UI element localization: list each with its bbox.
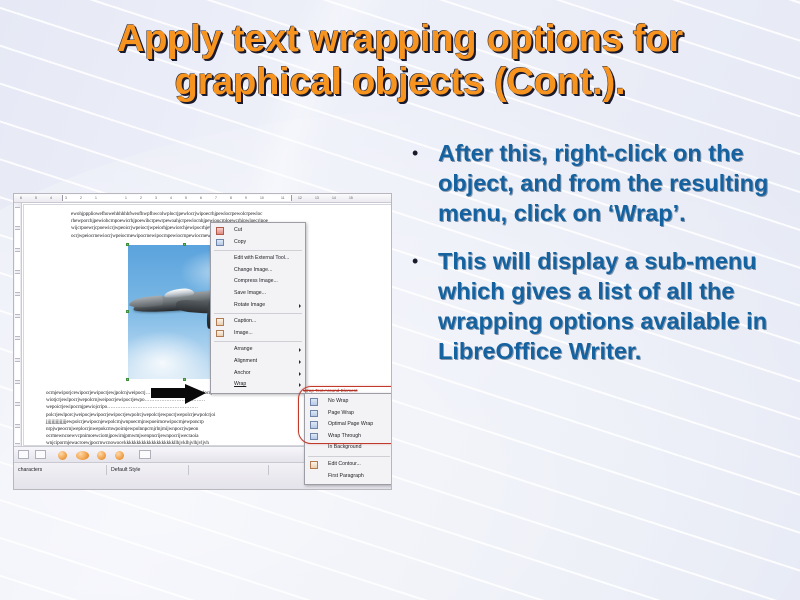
context-menu-label: Image... <box>234 330 253 336</box>
context-menu-label: Wrap <box>234 381 246 387</box>
context-menu-label: Caption... <box>234 318 256 324</box>
vertical-ruler <box>14 203 22 446</box>
ruler-tick: 6 <box>20 196 22 201</box>
submenu-item-edit-contour[interactable]: Edit Contour... <box>305 459 392 471</box>
scissors-icon <box>216 227 224 235</box>
slide-title: Apply text wrapping options for graphica… <box>30 18 770 103</box>
context-menu-item-wrap[interactable]: Wrap <box>211 379 305 391</box>
bullet-text: This will display a sub-menu which gives… <box>438 246 790 366</box>
submenu-item-optimal-page-wrap[interactable]: Optimal Page Wrap <box>305 419 392 431</box>
submenu-label: In Background <box>328 444 361 450</box>
chevron-right-icon <box>299 304 301 308</box>
edit-contour-icon <box>310 461 318 469</box>
chevron-right-icon <box>299 372 301 376</box>
bullet-item: • After this, right-click on the object,… <box>404 138 790 228</box>
toolbar-field[interactable] <box>18 450 29 459</box>
ruler-tick: 2 <box>140 196 142 201</box>
context-menu-label: Rotate Image <box>234 302 265 308</box>
toolbar-field[interactable] <box>35 450 46 459</box>
chevron-right-icon <box>299 360 301 364</box>
optimal-page-wrap-icon <box>310 421 318 429</box>
ruler-tick: 9 <box>245 196 247 201</box>
toolbar-icon[interactable] <box>97 451 106 460</box>
wrap-submenu[interactable]: No Wrap Page Wrap Optimal Page Wrap Wrap… <box>304 393 392 485</box>
submenu-item-no-wrap[interactable]: No Wrap <box>305 396 392 408</box>
context-menu-item-caption[interactable]: Caption... <box>211 316 305 328</box>
wrap-through-icon <box>310 433 318 441</box>
ruler-tick: 1 <box>95 196 97 201</box>
bullet-marker: • <box>404 246 438 276</box>
selection-handle[interactable] <box>183 243 186 246</box>
toolbar-icon[interactable] <box>58 451 67 460</box>
submenu-label: Wrap Through <box>328 433 361 439</box>
context-menu-label: Edit with External Tool... <box>234 255 289 261</box>
submenu-label: Edit Contour... <box>328 461 361 467</box>
toolbar-icon[interactable] <box>76 451 89 460</box>
ruler-tick: 3 <box>65 196 67 201</box>
horizontal-ruler: 6 5 4 3 2 1 1 2 3 4 5 6 7 8 9 10 11 12 1… <box>14 194 392 203</box>
submenu-label: First Paragraph <box>328 473 364 479</box>
ruler-tick: 12 <box>298 196 302 201</box>
context-menu-item-cut[interactable]: Cut <box>211 225 305 237</box>
ruler-tick: 2 <box>80 196 82 201</box>
ruler-tick: 4 <box>50 196 52 201</box>
status-page-style: Default Style <box>107 465 189 475</box>
toolbar-icon[interactable] <box>139 450 151 459</box>
presentation-slide: Apply text wrapping options for graphica… <box>0 0 800 600</box>
menu-separator <box>214 313 302 314</box>
context-menu-item-arrange[interactable]: Arrange <box>211 344 305 356</box>
selection-handle[interactable] <box>126 310 129 313</box>
context-menu-label: Copy <box>234 239 246 245</box>
ruler-tick: 6 <box>200 196 202 201</box>
ruler-tick: 8 <box>230 196 232 201</box>
context-menu-item-change-image[interactable]: Change Image... <box>211 265 305 277</box>
page-wrap-icon <box>310 410 318 418</box>
ruler-tick: 5 <box>35 196 37 201</box>
context-menu-label: Cut <box>234 227 242 233</box>
image-icon <box>216 330 224 338</box>
ruler-tick: 14 <box>332 196 336 201</box>
embedded-writer-screenshot: 6 5 4 3 2 1 1 2 3 4 5 6 7 8 9 10 11 12 1… <box>13 193 392 490</box>
submenu-label: No Wrap <box>328 398 348 404</box>
copy-icon <box>216 239 224 247</box>
context-menu-label: Save Image... <box>234 290 266 296</box>
ruler-tick: 3 <box>155 196 157 201</box>
ruler-tick: 13 <box>315 196 319 201</box>
submenu-item-page-wrap[interactable]: Page Wrap <box>305 408 392 420</box>
submenu-item-in-background[interactable]: In Background <box>305 442 392 454</box>
submenu-label: Optimal Page Wrap <box>328 421 373 427</box>
ruler-tick: 11 <box>281 196 285 201</box>
context-menu-label: Alignment <box>234 358 257 364</box>
context-menu-label: Change Image... <box>234 267 272 273</box>
selection-handle[interactable] <box>183 378 186 381</box>
ruler-tick: 1 <box>125 196 127 201</box>
ruler-tick: 7 <box>215 196 217 201</box>
ruler-tick: 15 <box>349 196 353 201</box>
ruler-tick: 4 <box>170 196 172 201</box>
slide-body-bullets: • After this, right-click on the object,… <box>404 138 790 384</box>
image-context-menu[interactable]: Cut Copy Edit with External Tool... Chan… <box>210 222 306 394</box>
menu-separator <box>214 341 302 342</box>
status-cell-empty <box>189 465 269 475</box>
chevron-right-icon <box>299 383 301 387</box>
bullet-marker: • <box>404 138 438 168</box>
toolbar-icon[interactable] <box>115 451 124 460</box>
context-menu-label: Compress Image... <box>234 278 278 284</box>
context-menu-item-compress-image[interactable]: Compress Image... <box>211 276 305 288</box>
context-menu-item-anchor[interactable]: Anchor <box>211 368 305 380</box>
ruler-tick: 5 <box>185 196 187 201</box>
selection-handle[interactable] <box>126 243 129 246</box>
chevron-right-icon <box>299 348 301 352</box>
submenu-item-first-paragraph[interactable]: First Paragraph <box>305 471 392 483</box>
submenu-highlight-strikethrough: Wrap Text Around Element <box>303 388 381 393</box>
context-menu-label: Arrange <box>234 346 252 352</box>
status-characters: characters <box>14 465 107 475</box>
submenu-item-wrap-through[interactable]: Wrap Through <box>305 431 392 443</box>
no-wrap-icon <box>310 398 318 406</box>
caption-icon <box>216 318 224 326</box>
bullet-text: After this, right-click on the object, a… <box>438 138 790 228</box>
context-menu-item-copy[interactable]: Copy <box>211 237 305 249</box>
selection-handle[interactable] <box>126 378 129 381</box>
context-menu-item-rotate-image[interactable]: Rotate Image <box>211 300 305 312</box>
context-menu-item-image[interactable]: Image... <box>211 328 305 340</box>
menu-separator <box>214 250 302 251</box>
submenu-label: Page Wrap <box>328 410 354 416</box>
context-menu-item-edit-external-tool[interactable]: Edit with External Tool... <box>211 253 305 265</box>
context-menu-label: Anchor <box>234 370 250 376</box>
bullet-item: • This will display a sub-menu which giv… <box>404 246 790 366</box>
menu-separator <box>308 456 390 457</box>
context-menu-item-alignment[interactable]: Alignment <box>211 356 305 368</box>
context-menu-item-save-image[interactable]: Save Image... <box>211 288 305 300</box>
ruler-tick: 10 <box>260 196 264 201</box>
